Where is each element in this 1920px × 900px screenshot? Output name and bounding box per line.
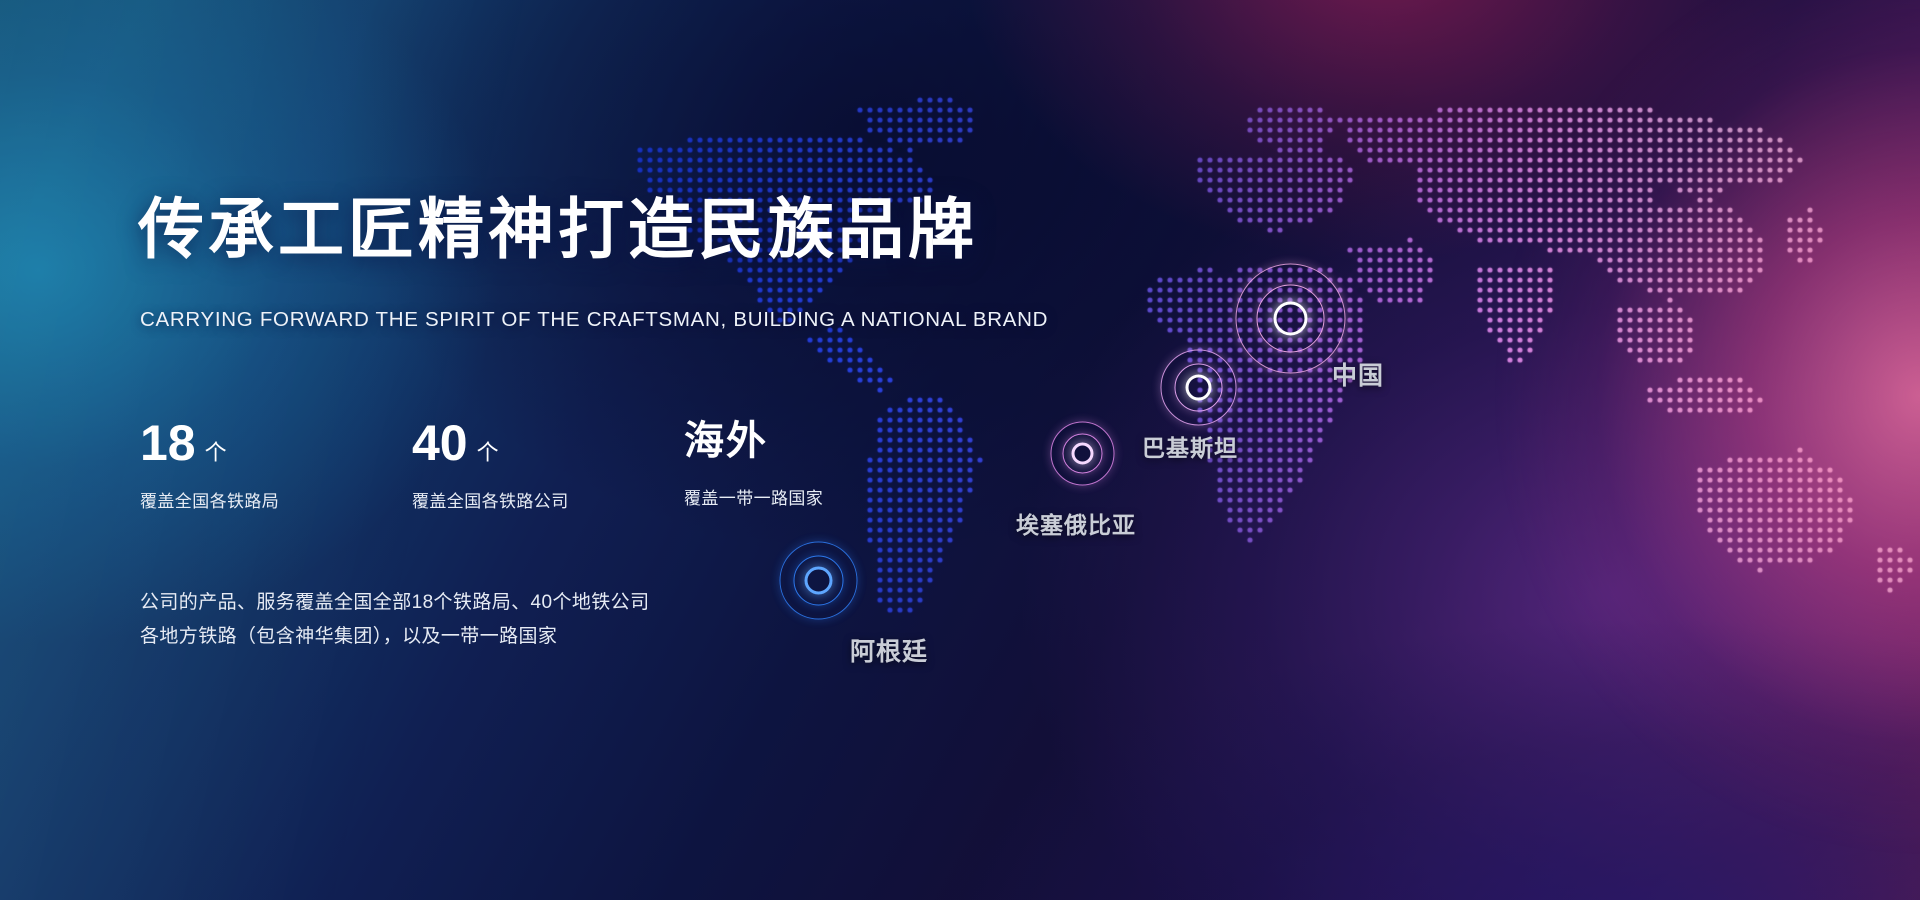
stat-caption: 覆盖一带一路国家 bbox=[684, 484, 823, 509]
hero-content: 传承工匠精神打造民族品牌 CARRYING FORWARD THE SPIRIT… bbox=[138, 0, 1038, 900]
page-subtitle: CARRYING FORWARD THE SPIRIT OF THE CRAFT… bbox=[140, 308, 1048, 332]
description-line-2: 各地方铁路（包含神华集团），以及一带一路国家 bbox=[140, 620, 649, 654]
stat-item-railway-companies: 40 个 覆盖全国各铁路公司 bbox=[412, 418, 684, 512]
map-marker-china[interactable] bbox=[1290, 318, 1291, 319]
stat-value-group: 40 个 bbox=[412, 418, 684, 468]
marker-core-dot-icon bbox=[1071, 442, 1093, 464]
marker-core-dot-icon bbox=[1273, 301, 1307, 335]
stat-unit: 个 bbox=[477, 442, 499, 464]
stat-number: 40 bbox=[412, 418, 468, 468]
stats-row: 18 个 覆盖全国各铁路局 40 个 覆盖全国各铁路公司 海外 覆盖一带一路国家 bbox=[140, 418, 823, 512]
description-line-1: 公司的产品、服务覆盖全国全部18个铁路局、40个地铁公司 bbox=[140, 586, 649, 620]
map-marker-label-china: 中国 bbox=[1332, 356, 1384, 392]
stat-caption: 覆盖全国各铁路局 bbox=[140, 487, 412, 512]
hero-banner: 中国巴基斯坦埃塞俄比亚阿根廷 传承工匠精神打造民族品牌 CARRYING FOR… bbox=[0, 0, 1920, 900]
map-marker-pakistan[interactable] bbox=[1198, 387, 1199, 388]
stat-value-group: 18 个 bbox=[140, 418, 412, 468]
stat-unit: 个 bbox=[205, 442, 227, 464]
stat-caption: 覆盖全国各铁路公司 bbox=[412, 487, 684, 512]
stat-value-group: 海外 bbox=[684, 418, 823, 465]
marker-core-dot-icon bbox=[1185, 374, 1211, 400]
map-marker-label-pakistan: 巴基斯坦 bbox=[1142, 429, 1238, 463]
stat-number: 18 bbox=[140, 418, 196, 468]
page-title: 传承工匠精神打造民族品牌 bbox=[138, 196, 978, 262]
description-paragraph: 公司的产品、服务覆盖全国全部18个铁路局、40个地铁公司 各地方铁路（包含神华集… bbox=[140, 586, 649, 654]
map-marker-ethiopia[interactable] bbox=[1082, 453, 1083, 454]
stat-item-overseas: 海外 覆盖一带一路国家 bbox=[684, 418, 823, 512]
stat-word: 海外 bbox=[684, 418, 768, 465]
stat-item-railway-bureaus: 18 个 覆盖全国各铁路局 bbox=[140, 418, 412, 512]
